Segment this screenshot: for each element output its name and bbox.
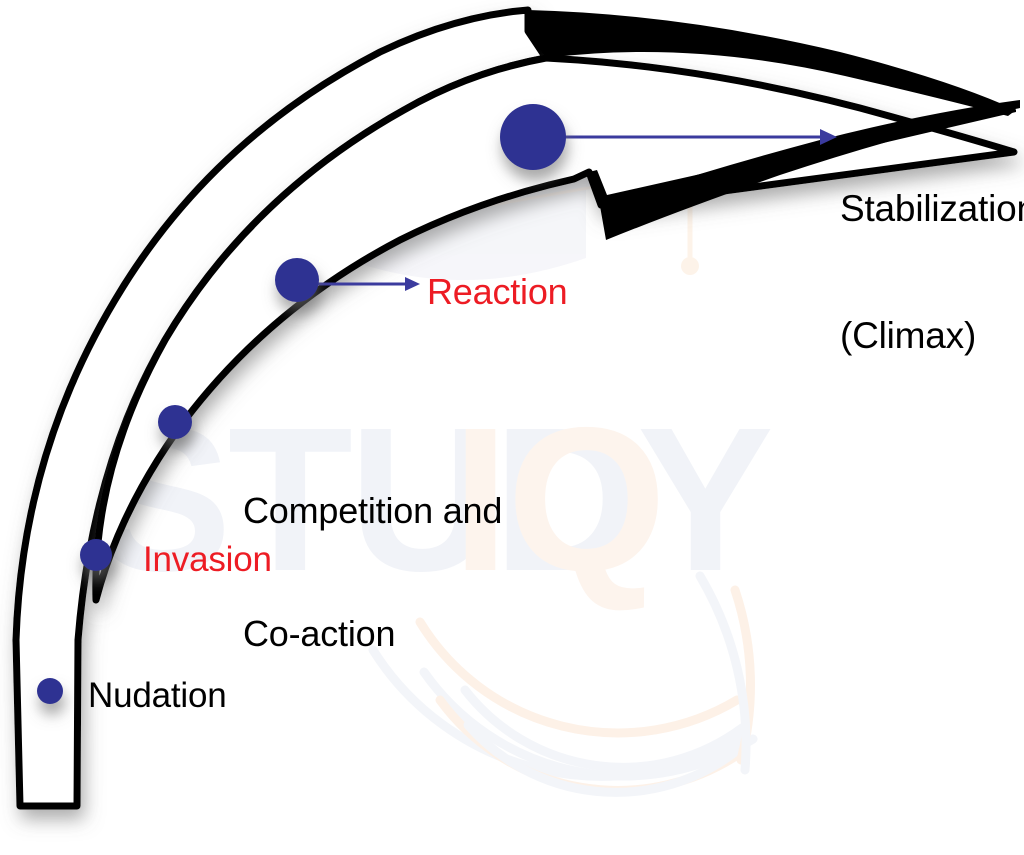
stage-label-nudation: Nudation [88,676,227,716]
stage-label-reaction: Reaction [427,271,567,312]
stage-label-line2: (Climax) [840,315,1024,357]
stage-label-stabilization-climax: Stabilization (Climax) [840,104,1024,441]
stage-label-line1: Competition and [243,490,502,531]
stage-label-line1: Stabilization [840,188,1024,230]
stage-label-competition-and-co-action: Competition and Co-action [243,408,502,736]
stage-marker-nudation[interactable] [37,678,63,704]
stage-marker-reaction[interactable] [275,258,319,302]
stage-label-line2: Co-action [243,613,502,654]
diagram-canvas: STUDY IQ [0,0,1024,855]
stage-marker-invasion[interactable] [80,539,112,571]
stage-label-invasion: Invasion [143,540,272,580]
stage-marker-competition-and-co-action[interactable] [158,405,192,439]
stage-marker-stabilization-climax[interactable] [500,104,566,170]
